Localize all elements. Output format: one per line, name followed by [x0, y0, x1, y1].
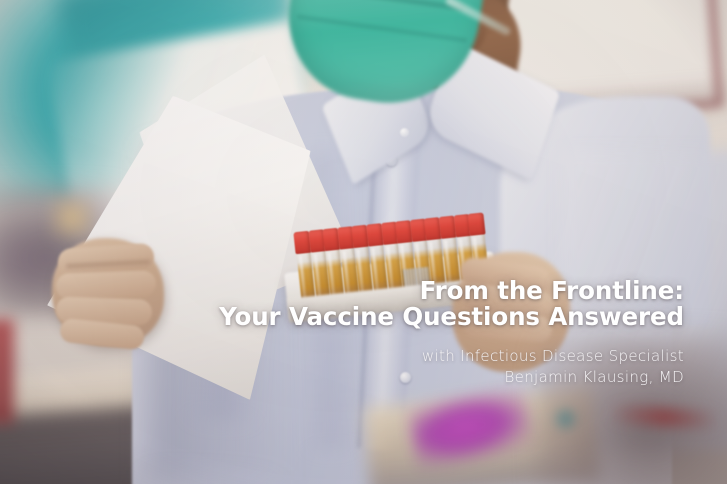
speaker-role: with Infectious Disease Specialist	[84, 346, 684, 367]
background-photo	[0, 0, 727, 484]
page-title-line-1: From the Frontline:	[84, 278, 684, 304]
promo-text-block: From the Frontline: Your Vaccine Questio…	[84, 278, 684, 388]
webinar-promo-banner: From the Frontline: Your Vaccine Questio…	[0, 0, 727, 484]
collar-button	[400, 128, 409, 137]
specimen-tube-cap	[468, 212, 486, 236]
lab-equipment-highlight	[48, 196, 96, 240]
page-title-line-2: Your Vaccine Questions Answered	[84, 304, 684, 330]
bench-red-accent	[0, 319, 14, 424]
speaker-name: Benjamin Klausing, MD	[84, 367, 684, 388]
speaker-credit: with Infectious Disease Specialist Benja…	[84, 346, 684, 388]
